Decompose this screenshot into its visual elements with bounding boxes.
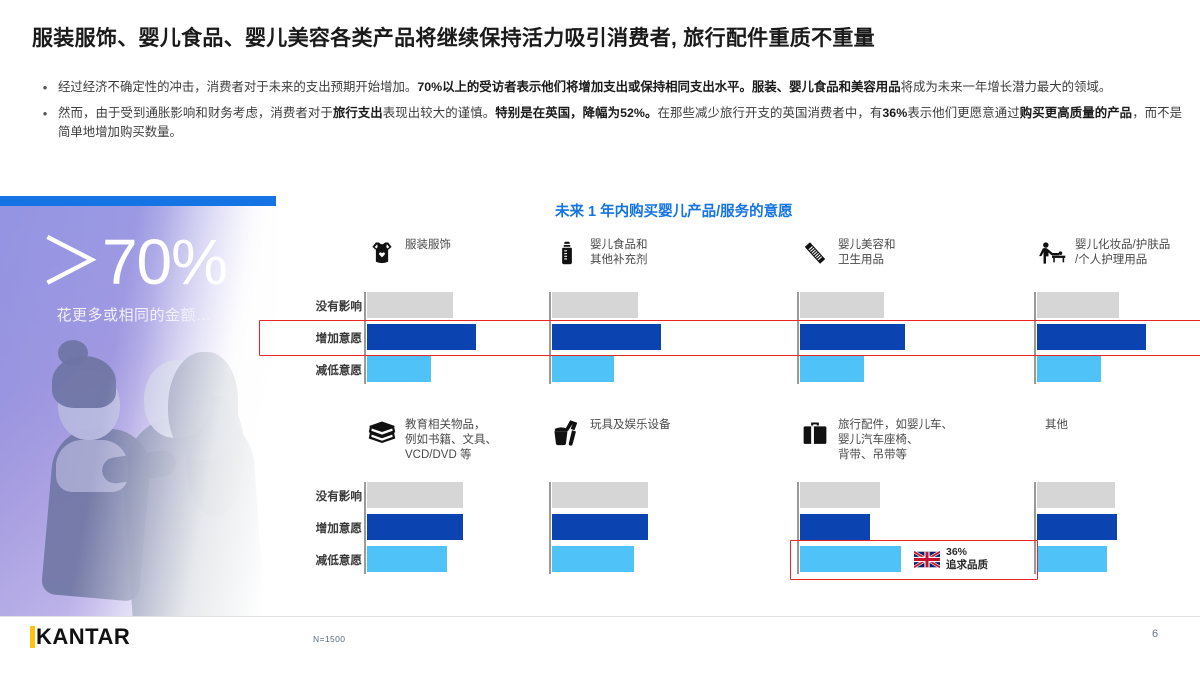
uk-callout-text: 36% 追求品质	[946, 546, 988, 572]
footer-divider	[0, 616, 1200, 617]
chart-category-label: 玩具及娱乐设备	[590, 416, 671, 433]
chart-bar	[552, 324, 661, 350]
chart-category-label: 其他	[1045, 416, 1068, 433]
chart-row-label: 减低意愿	[262, 362, 362, 378]
chart-bar	[800, 514, 870, 540]
chart-row-label: 增加意愿	[262, 330, 362, 346]
chart-category-header: 婴儿化妆品/护肤品 /个人护理用品	[1037, 236, 1200, 270]
baby-changing-icon	[1037, 236, 1067, 270]
chart-bar	[800, 356, 864, 382]
chart-axis-line	[797, 482, 799, 574]
chart-bar	[1037, 324, 1146, 350]
bullet-text: 然而，由于受到通胀影响和财务考虑，消费者对于旅行支出表现出较大的谨慎。特别是在英…	[58, 104, 1182, 142]
chart-row-label: 减低意愿	[262, 552, 362, 568]
chart-row-label: 没有影响	[262, 488, 362, 504]
chart-bar	[367, 356, 431, 382]
list-item: • 经过经济不确定性的冲击，消费者对于未来的支出预期开始增加。70%以上的受访者…	[32, 78, 1182, 97]
chart-bar	[800, 546, 901, 572]
chart-category-header: 其他	[1037, 416, 1200, 450]
baby-bottle-icon	[552, 236, 582, 270]
chart-category-header: 婴儿食品和 其他补充剂	[552, 236, 782, 270]
chart-row-label: 增加意愿	[262, 520, 362, 536]
bullet-list: • 经过经济不确定性的冲击，消费者对于未来的支出预期开始增加。70%以上的受访者…	[32, 78, 1182, 150]
hero-panel: ＞70% 花更多或相同的金额…	[0, 196, 276, 616]
logo-accent-bar	[30, 626, 35, 648]
chart-bar	[367, 482, 463, 508]
chart-axis-line	[1034, 292, 1036, 384]
chart-bar	[367, 292, 453, 318]
chart-bar	[552, 482, 648, 508]
chart-axis-line	[1034, 482, 1036, 574]
chart-bar	[552, 356, 614, 382]
chart-bar	[367, 514, 463, 540]
chart-bar	[1037, 482, 1115, 508]
chart-axis-line	[549, 482, 551, 574]
chart-bar	[367, 324, 476, 350]
toys-icon	[552, 416, 582, 450]
chart-axis-line	[797, 292, 799, 384]
chart-category-label: 旅行配件，如婴儿车、 婴儿汽车座椅、 背带、吊带等	[838, 416, 953, 464]
books-icon	[367, 416, 397, 450]
chart-category-header: 旅行配件，如婴儿车、 婴儿汽车座椅、 背带、吊带等	[800, 416, 1030, 464]
chart-bar	[552, 546, 634, 572]
chart-axis-line	[364, 482, 366, 574]
uk-quality-callout: 36% 追求品质	[910, 544, 992, 574]
chart-bar	[552, 514, 648, 540]
hero-stat-value: ＞70%	[8, 230, 258, 294]
page-number: 6	[1152, 628, 1158, 640]
chart-bar	[1037, 546, 1107, 572]
uk-flag-icon	[914, 551, 940, 568]
chart-axis-line	[364, 292, 366, 384]
chart-bar	[800, 292, 884, 318]
hero-stat-caption: 花更多或相同的金额…	[8, 304, 260, 325]
chart-title: 未来 1 年内购买婴儿产品/服务的意愿	[555, 200, 793, 221]
suitcase-icon	[800, 416, 830, 450]
page-title: 服装服饰、婴儿食品、婴儿美容各类产品将继续保持活力吸引消费者, 旅行配件重质不重…	[32, 26, 1172, 52]
onesie-icon	[367, 236, 397, 270]
chart-category-label: 婴儿化妆品/护肤品 /个人护理用品	[1075, 236, 1170, 268]
chart-category-label: 服装服饰	[405, 236, 451, 253]
bullet-text: 经过经济不确定性的冲击，消费者对于未来的支出预期开始增加。70%以上的受访者表示…	[58, 78, 1182, 97]
chart-category-label: 婴儿美容和 卫生用品	[838, 236, 896, 268]
chart-category-header: 玩具及娱乐设备	[552, 416, 782, 450]
chart-bar	[1037, 356, 1101, 382]
logo-wordmark: KANTAR	[36, 624, 130, 650]
chart-bar	[800, 482, 880, 508]
chart-category-label: 婴儿食品和 其他补充剂	[590, 236, 648, 268]
chart-bar	[1037, 292, 1119, 318]
baby-product-purchase-intent-chart: 服装服饰婴儿食品和 其他补充剂婴儿美容和 卫生用品婴儿化妆品/护肤品 /个人护理…	[262, 230, 1200, 618]
hero-accent-bar	[0, 196, 276, 206]
chart-category-label: 教育相关物品， 例如书籍、文具、 VCD/DVD 等	[405, 416, 497, 464]
sample-size-note: N=1500	[313, 634, 345, 644]
kantar-logo: KANTAR	[30, 624, 130, 650]
bullet-marker: •	[32, 78, 58, 97]
comb-icon	[800, 236, 830, 270]
list-item: • 然而，由于受到通胀影响和财务考虑，消费者对于旅行支出表现出较大的谨慎。特别是…	[32, 104, 1182, 142]
chart-axis-line	[549, 292, 551, 384]
chart-bar	[800, 324, 905, 350]
chart-bar	[367, 546, 447, 572]
chart-bar	[552, 292, 638, 318]
chart-row-label: 没有影响	[262, 298, 362, 314]
chart-bar	[1037, 514, 1117, 540]
bullet-marker: •	[32, 104, 58, 142]
chart-category-header: 婴儿美容和 卫生用品	[800, 236, 1030, 270]
